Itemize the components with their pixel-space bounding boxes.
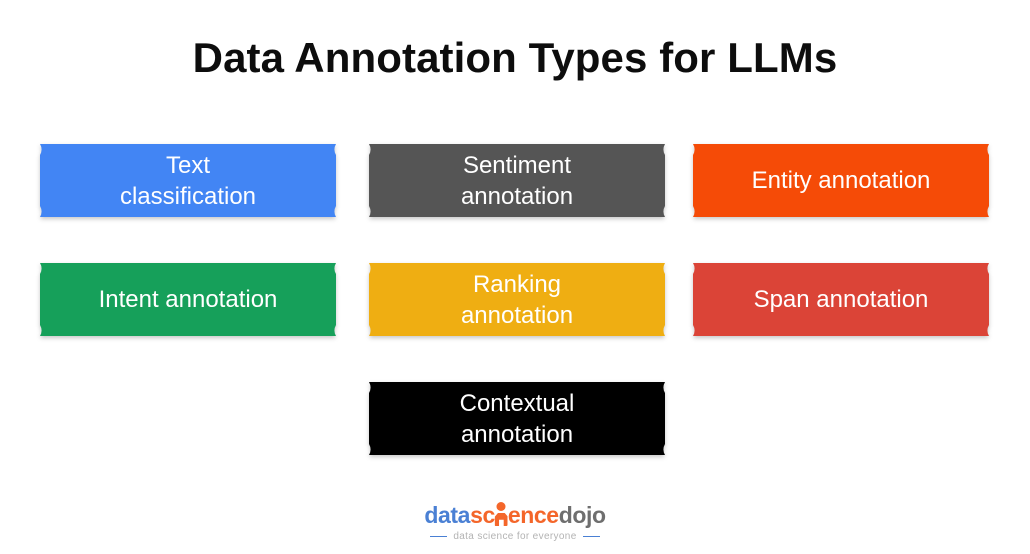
logo-text-sc: sc (470, 503, 495, 527)
annotation-card-intent-annotation[interactable]: Intent annotation (40, 263, 336, 336)
logo-tagline: data science for everyone (430, 531, 599, 542)
annotation-types-grid: Text classification Sentiment annotation… (0, 144, 1030, 501)
person-head (497, 502, 506, 511)
banner: Text classification (40, 144, 336, 217)
annotation-row-3: Contextual annotation (0, 382, 1030, 455)
annotation-card-contextual-annotation[interactable]: Contextual annotation (369, 382, 665, 455)
logo-text-ence: ence (508, 503, 559, 527)
banner-label: Text classification (40, 144, 336, 217)
annotation-card-span-annotation[interactable]: Span annotation (693, 263, 989, 336)
infographic-page: Data Annotation Types for LLMs Text clas… (0, 0, 1030, 554)
logo-text-dojo: dojo (559, 503, 606, 527)
banner: Sentiment annotation (369, 144, 665, 217)
banner-label: Span annotation (693, 263, 989, 336)
annotation-row-2: Intent annotation Ranking annotation Spa… (0, 263, 1030, 336)
tagline-text: data science for everyone (453, 531, 576, 542)
logo-text-data: data (424, 503, 470, 527)
banner: Ranking annotation (369, 263, 665, 336)
banner: Intent annotation (40, 263, 336, 336)
annotation-card-sentiment-annotation[interactable]: Sentiment annotation (369, 144, 665, 217)
banner-label: Sentiment annotation (369, 144, 665, 217)
annotation-card-entity-annotation[interactable]: Entity annotation (693, 144, 989, 217)
banner-label: Contextual annotation (369, 382, 665, 455)
tagline-dash-right (583, 536, 600, 538)
person-icon (495, 503, 508, 527)
banner-label: Ranking annotation (369, 263, 665, 336)
banner: Contextual annotation (369, 382, 665, 455)
banner-label: Entity annotation (693, 144, 989, 217)
datasciencedojo-logo: datascencedojo data science for everyone (0, 503, 1030, 542)
page-title: Data Annotation Types for LLMs (0, 34, 1030, 82)
logo-wordmark: datascencedojo (424, 503, 605, 527)
tagline-dash-left (430, 536, 447, 538)
person-body (495, 513, 508, 526)
annotation-card-text-classification[interactable]: Text classification (40, 144, 336, 217)
annotation-card-ranking-annotation[interactable]: Ranking annotation (369, 263, 665, 336)
banner: Span annotation (693, 263, 989, 336)
annotation-row-1: Text classification Sentiment annotation… (0, 144, 1030, 217)
banner-label: Intent annotation (40, 263, 336, 336)
banner: Entity annotation (693, 144, 989, 217)
